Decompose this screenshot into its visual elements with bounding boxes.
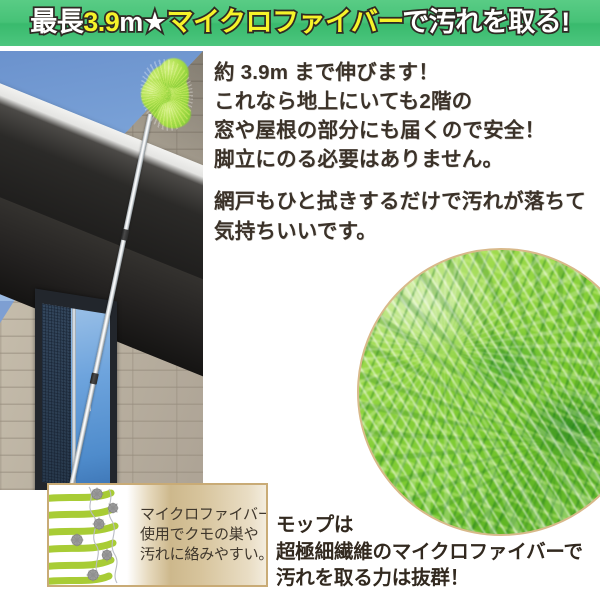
header-text-microfiber: マイクロファイバー <box>166 7 402 37</box>
strands-svg <box>49 485 135 585</box>
fiber-fuzz-texture <box>359 250 600 534</box>
copy-line: 約 3.9m まで伸びます！ <box>214 58 596 87</box>
star-icon: ★ <box>143 7 167 37</box>
copy-line: 窓や屋根の部分にも届くので安全！ <box>214 116 596 145</box>
inset-line: マイクロファイバー <box>140 505 268 525</box>
bottom-line: モップは <box>276 512 600 539</box>
bottom-line: 汚れを取る力は抜群！ <box>276 565 600 592</box>
microfiber-mop-head <box>137 56 196 133</box>
bottom-headline-block: モップは 超極細繊維のマイクロファイバーで 汚れを取る力は抜群！ <box>276 512 600 592</box>
main-copy-block: 約 3.9m まで伸びます！ これなら地上にいても2階の 窓や屋根の部分にも届く… <box>214 58 596 246</box>
header-banner: 最長3.9m★マイクロファイバーで汚れを取る! <box>0 0 600 46</box>
inset-line: 汚れに絡みやすい。 <box>140 545 268 565</box>
bottom-line: 超極細繊維のマイクロファイバーで <box>276 539 600 566</box>
window-insect-screen <box>42 304 71 487</box>
copy-line: 脚立にのる必要はありません。 <box>214 145 596 174</box>
copy-line: 気持ちいいです。 <box>214 217 596 246</box>
paragraph-spacer <box>214 174 596 187</box>
header-text-length-value: 3.9 <box>83 7 119 37</box>
inset-text-block: マイクロファイバー 使用でクモの巣や 汚れに絡みやすい。 <box>135 485 268 585</box>
header-text-saicho: 最長 <box>30 7 83 37</box>
inset-line: 使用でクモの巣や <box>140 525 268 545</box>
page-title: 最長3.9m★マイクロファイバーで汚れを取る! <box>30 9 570 36</box>
copy-line: 網戸もひと拭きするだけで汚れが落ちて <box>214 187 596 216</box>
microfiber-closeup-circle <box>357 248 600 536</box>
microfiber-explainer-box: マイクロファイバー 使用でクモの巣や 汚れに絡みやすい。 <box>47 483 268 587</box>
copy-line: これなら地上にいても2階の <box>214 87 596 116</box>
header-text-meter-unit: m <box>119 7 143 37</box>
microfiber-strands-diagram <box>49 485 135 585</box>
main-product-photo <box>0 51 203 490</box>
header-text-remove-dirt: で汚れを取る! <box>402 7 570 37</box>
